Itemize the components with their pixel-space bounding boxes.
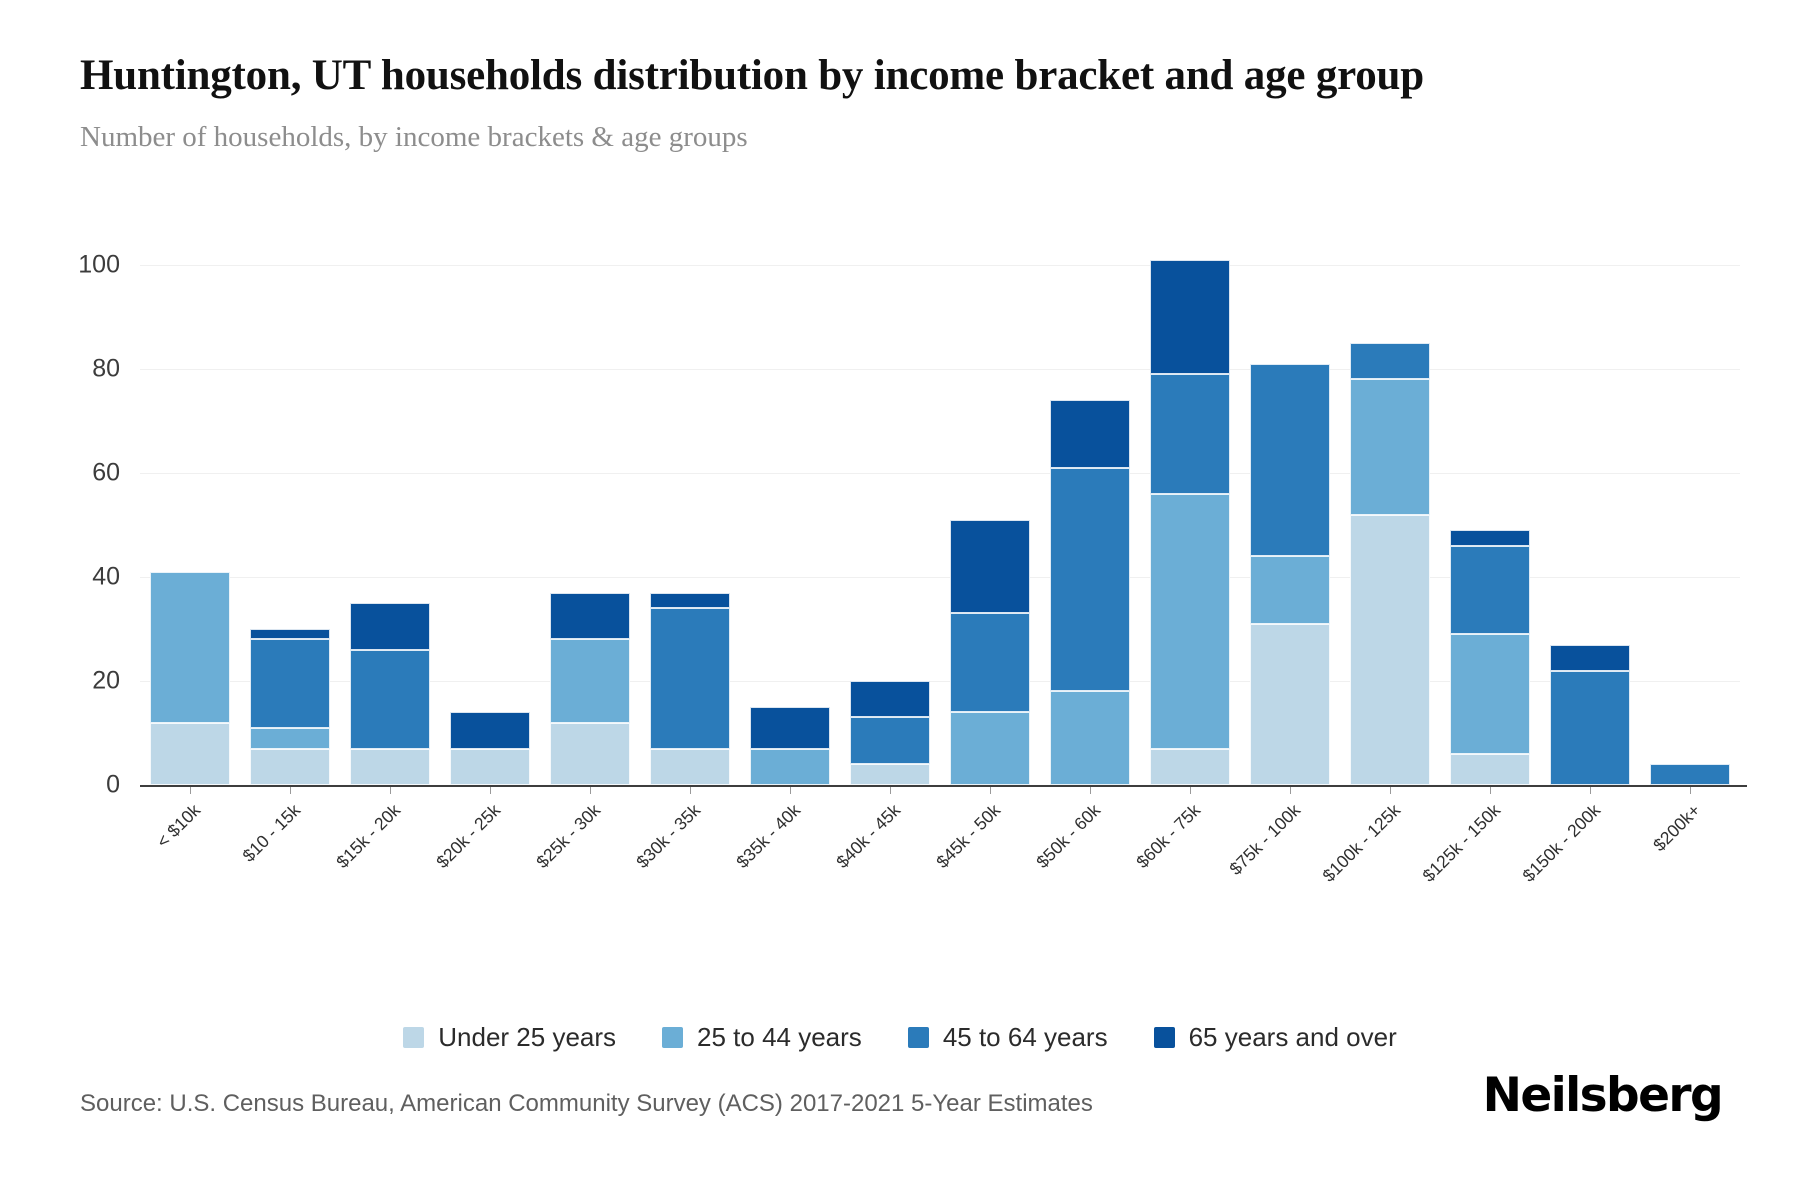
bar-segment[interactable] (650, 749, 730, 785)
bar-column[interactable] (1350, 343, 1430, 785)
bar-segment[interactable] (1150, 494, 1230, 749)
bar-column[interactable] (450, 712, 530, 785)
bar-column[interactable] (850, 681, 930, 785)
x-axis-line (140, 785, 1747, 787)
x-axis-tick (1690, 787, 1691, 794)
bar-segment[interactable] (250, 639, 330, 727)
bar-segment[interactable] (1450, 546, 1530, 634)
bar-column[interactable] (1050, 400, 1130, 785)
legend-label: Under 25 years (438, 1022, 616, 1053)
bar-column[interactable] (1250, 364, 1330, 785)
brand-logo: Neilsberg (1483, 1068, 1722, 1123)
y-axis-tick-label: 100 (0, 251, 120, 280)
bar-segment[interactable] (1450, 634, 1530, 754)
legend-label: 45 to 64 years (943, 1022, 1108, 1053)
bar-column[interactable] (750, 707, 830, 785)
bar-segment[interactable] (250, 728, 330, 749)
bar-segment[interactable] (650, 608, 730, 748)
bar-segment[interactable] (1350, 343, 1430, 379)
y-axis-tick-label: 60 (0, 459, 120, 488)
bar-column[interactable] (550, 593, 630, 785)
bar-segment[interactable] (550, 723, 630, 785)
legend-swatch-icon (908, 1027, 929, 1048)
bar-segment[interactable] (550, 593, 630, 640)
bar-segment[interactable] (350, 650, 430, 749)
bar-segment[interactable] (250, 629, 330, 639)
bar-segment[interactable] (1450, 530, 1530, 546)
bar-column[interactable] (1150, 260, 1230, 785)
bar-segment[interactable] (1350, 379, 1430, 514)
bar-segment[interactable] (850, 681, 930, 717)
bar-column[interactable] (150, 572, 230, 785)
bar-column[interactable] (950, 520, 1030, 785)
bar-segment[interactable] (350, 603, 430, 650)
chart-legend: Under 25 years25 to 44 years45 to 64 yea… (0, 1022, 1800, 1053)
gridline (140, 473, 1740, 474)
bar-segment[interactable] (950, 520, 1030, 614)
bar-segment[interactable] (250, 749, 330, 785)
bar-segment[interactable] (1250, 624, 1330, 785)
x-axis-tick (1290, 787, 1291, 794)
bar-column[interactable] (1550, 645, 1630, 785)
bar-column[interactable] (1650, 764, 1730, 785)
legend-item[interactable]: 45 to 64 years (908, 1022, 1108, 1053)
y-axis-tick-label: 80 (0, 355, 120, 384)
x-axis-tick (1590, 787, 1591, 794)
bar-segment[interactable] (1250, 556, 1330, 624)
legend-label: 25 to 44 years (697, 1022, 862, 1053)
bar-segment[interactable] (550, 639, 630, 722)
bar-segment[interactable] (450, 712, 530, 748)
x-axis-tick (190, 787, 191, 794)
x-axis-tick (990, 787, 991, 794)
bar-column[interactable] (350, 603, 430, 785)
x-axis-tick (1490, 787, 1491, 794)
legend-swatch-icon (662, 1027, 683, 1048)
x-axis-tick (690, 787, 691, 794)
legend-swatch-icon (1154, 1027, 1175, 1048)
bar-segment[interactable] (650, 593, 730, 609)
x-axis-tick (490, 787, 491, 794)
y-axis-tick-label: 20 (0, 667, 120, 696)
bar-segment[interactable] (1150, 374, 1230, 494)
bar-segment[interactable] (150, 572, 230, 723)
gridline (140, 265, 1740, 266)
bar-segment[interactable] (1550, 645, 1630, 671)
bar-segment[interactable] (750, 749, 830, 785)
bar-column[interactable] (650, 593, 730, 785)
plot-area: 020406080100 < $10k$10 - 15k$15k - 20k$2… (0, 0, 1800, 1200)
x-axis-tick (1090, 787, 1091, 794)
chart-page: Huntington, UT households distribution b… (0, 0, 1800, 1200)
bar-segment[interactable] (950, 712, 1030, 785)
bar-column[interactable] (250, 629, 330, 785)
bar-segment[interactable] (850, 764, 930, 785)
bar-segment[interactable] (1650, 764, 1730, 785)
legend-item[interactable]: 65 years and over (1154, 1022, 1397, 1053)
legend-item[interactable]: Under 25 years (403, 1022, 616, 1053)
bar-segment[interactable] (750, 707, 830, 749)
bar-column[interactable] (1450, 530, 1530, 785)
bar-segment[interactable] (850, 717, 930, 764)
gridline (140, 369, 1740, 370)
bar-segment[interactable] (1050, 400, 1130, 468)
x-axis-tick (1390, 787, 1391, 794)
bar-segment[interactable] (450, 749, 530, 785)
x-axis-tick (290, 787, 291, 794)
source-note: Source: U.S. Census Bureau, American Com… (80, 1090, 1093, 1118)
bar-segment[interactable] (1450, 754, 1530, 785)
legend-label: 65 years and over (1189, 1022, 1397, 1053)
x-axis-tick (590, 787, 591, 794)
bar-segment[interactable] (350, 749, 430, 785)
x-axis-tick (390, 787, 391, 794)
bar-segment[interactable] (1150, 260, 1230, 374)
x-axis-tick (790, 787, 791, 794)
legend-item[interactable]: 25 to 44 years (662, 1022, 862, 1053)
bar-segment[interactable] (1550, 671, 1630, 785)
bar-segment[interactable] (150, 723, 230, 785)
x-axis-tick (890, 787, 891, 794)
bar-segment[interactable] (1050, 468, 1130, 692)
bar-segment[interactable] (950, 613, 1030, 712)
bar-segment[interactable] (1350, 515, 1430, 785)
y-axis-tick-label: 40 (0, 563, 120, 592)
bar-segment[interactable] (1150, 749, 1230, 785)
legend-swatch-icon (403, 1027, 424, 1048)
bar-segment[interactable] (1250, 364, 1330, 556)
x-axis-tick (1190, 787, 1191, 794)
bar-segment[interactable] (1050, 691, 1130, 785)
y-axis-tick-label: 0 (0, 771, 120, 800)
